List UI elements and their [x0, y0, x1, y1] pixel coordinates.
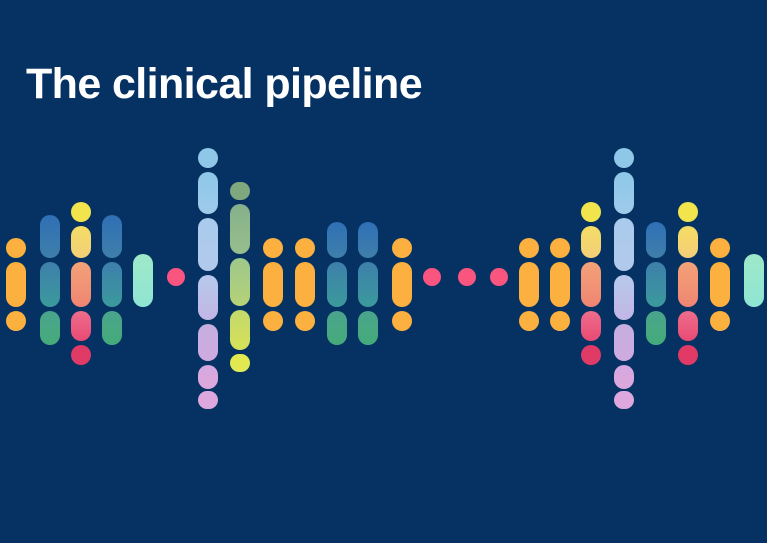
column-21-blue-green [646, 0, 666, 543]
column-8-teal-lime-segment-5 [230, 354, 250, 372]
column-17-orange-segment-2 [519, 262, 539, 307]
column-15-pink-dot [458, 0, 476, 543]
column-20-tall-blue-orchid-segment-3 [614, 218, 634, 271]
column-3-yellow-magenta-segment-2 [71, 226, 91, 258]
column-1-orange-segment-1 [6, 238, 26, 258]
page-title: The clinical pipeline [26, 60, 422, 108]
column-9-orange-segment-2 [263, 262, 283, 307]
column-13-orange-segment-2 [392, 262, 412, 307]
column-22-yellow-magenta-segment-4 [678, 311, 698, 341]
column-18-orange-segment-1 [550, 238, 570, 258]
column-15-pink-dot-segment-1 [458, 268, 476, 286]
column-10-orange-segment-1 [295, 238, 315, 258]
column-22-yellow-magenta-segment-3 [678, 262, 698, 307]
column-7-tall-blue-orchid-segment-7 [198, 391, 218, 409]
column-20-tall-blue-orchid [614, 0, 634, 543]
column-14-pink-dot-segment-1 [423, 268, 441, 286]
column-8-teal-lime-segment-1 [230, 182, 250, 200]
column-17-orange-segment-1 [519, 238, 539, 258]
column-7-tall-blue-orchid-segment-4 [198, 275, 218, 320]
column-7-tall-blue-orchid-segment-3 [198, 218, 218, 271]
column-3-yellow-magenta-segment-4 [71, 311, 91, 341]
column-16-pink-dot-segment-1 [490, 268, 508, 286]
column-21-blue-green-segment-1 [646, 222, 666, 258]
column-19-yellow-magenta-segment-4 [581, 311, 601, 341]
column-7-tall-blue-orchid-segment-1 [198, 148, 218, 168]
column-8-teal-lime-segment-2 [230, 204, 250, 254]
column-20-tall-blue-orchid-segment-5 [614, 324, 634, 361]
column-9-orange-segment-1 [263, 238, 283, 258]
column-11-blue-green-segment-3 [327, 311, 347, 345]
column-17-orange-segment-3 [519, 311, 539, 331]
column-19-yellow-magenta [581, 0, 601, 543]
column-12-blue-green-segment-2 [358, 262, 378, 307]
column-3-yellow-magenta-segment-1 [71, 202, 91, 222]
column-20-tall-blue-orchid-segment-1 [614, 148, 634, 168]
column-14-pink-dot [423, 0, 441, 543]
column-3-yellow-magenta-segment-3 [71, 262, 91, 307]
column-18-orange [550, 0, 570, 543]
column-19-yellow-magenta-segment-2 [581, 226, 601, 258]
clinical-pipeline-banner: The clinical pipeline [0, 0, 767, 543]
column-20-tall-blue-orchid-segment-7 [614, 391, 634, 409]
column-5-mint-segment-1 [133, 254, 153, 307]
column-8-teal-lime-segment-3 [230, 258, 250, 306]
column-7-tall-blue-orchid-segment-6 [198, 365, 218, 389]
column-11-blue-green-segment-2 [327, 262, 347, 307]
column-18-orange-segment-3 [550, 311, 570, 331]
column-12-blue-green-segment-3 [358, 311, 378, 345]
column-21-blue-green-segment-2 [646, 262, 666, 307]
column-11-blue-green-segment-1 [327, 222, 347, 258]
column-10-orange-segment-2 [295, 262, 315, 307]
column-13-orange-segment-3 [392, 311, 412, 331]
column-2-blue-green-segment-1 [40, 215, 60, 258]
column-19-yellow-magenta-segment-3 [581, 262, 601, 307]
column-20-tall-blue-orchid-segment-2 [614, 172, 634, 214]
column-17-orange [519, 0, 539, 543]
column-16-pink-dot [490, 0, 508, 543]
column-10-orange-segment-3 [295, 311, 315, 331]
column-1-orange-segment-3 [6, 311, 26, 331]
column-4-blue-green-segment-2 [102, 262, 122, 307]
column-20-tall-blue-orchid-segment-4 [614, 275, 634, 320]
column-12-blue-green-segment-1 [358, 222, 378, 258]
column-1-orange [6, 0, 26, 543]
column-22-yellow-magenta-segment-5 [678, 345, 698, 365]
column-2-blue-green-segment-3 [40, 311, 60, 345]
column-18-orange-segment-2 [550, 262, 570, 307]
column-9-orange-segment-3 [263, 311, 283, 331]
column-23-orange-segment-2 [710, 262, 730, 307]
column-2-blue-green-segment-2 [40, 262, 60, 307]
column-4-blue-green-segment-1 [102, 215, 122, 258]
column-23-orange [710, 0, 730, 543]
column-19-yellow-magenta-segment-5 [581, 345, 601, 365]
column-22-yellow-magenta-segment-2 [678, 226, 698, 258]
column-4-blue-green-segment-3 [102, 311, 122, 345]
column-24-mint [744, 0, 764, 543]
column-7-tall-blue-orchid-segment-2 [198, 172, 218, 214]
column-13-orange-segment-1 [392, 238, 412, 258]
column-22-yellow-magenta-segment-1 [678, 202, 698, 222]
column-23-orange-segment-3 [710, 311, 730, 331]
column-19-yellow-magenta-segment-1 [581, 202, 601, 222]
column-8-teal-lime-segment-4 [230, 310, 250, 350]
column-3-yellow-magenta-segment-5 [71, 345, 91, 365]
column-7-tall-blue-orchid-segment-5 [198, 324, 218, 361]
column-1-orange-segment-2 [6, 262, 26, 307]
column-22-yellow-magenta [678, 0, 698, 543]
column-20-tall-blue-orchid-segment-6 [614, 365, 634, 389]
column-23-orange-segment-1 [710, 238, 730, 258]
column-21-blue-green-segment-3 [646, 311, 666, 345]
column-6-pink-dot-segment-1 [167, 268, 185, 286]
column-24-mint-segment-1 [744, 254, 764, 307]
